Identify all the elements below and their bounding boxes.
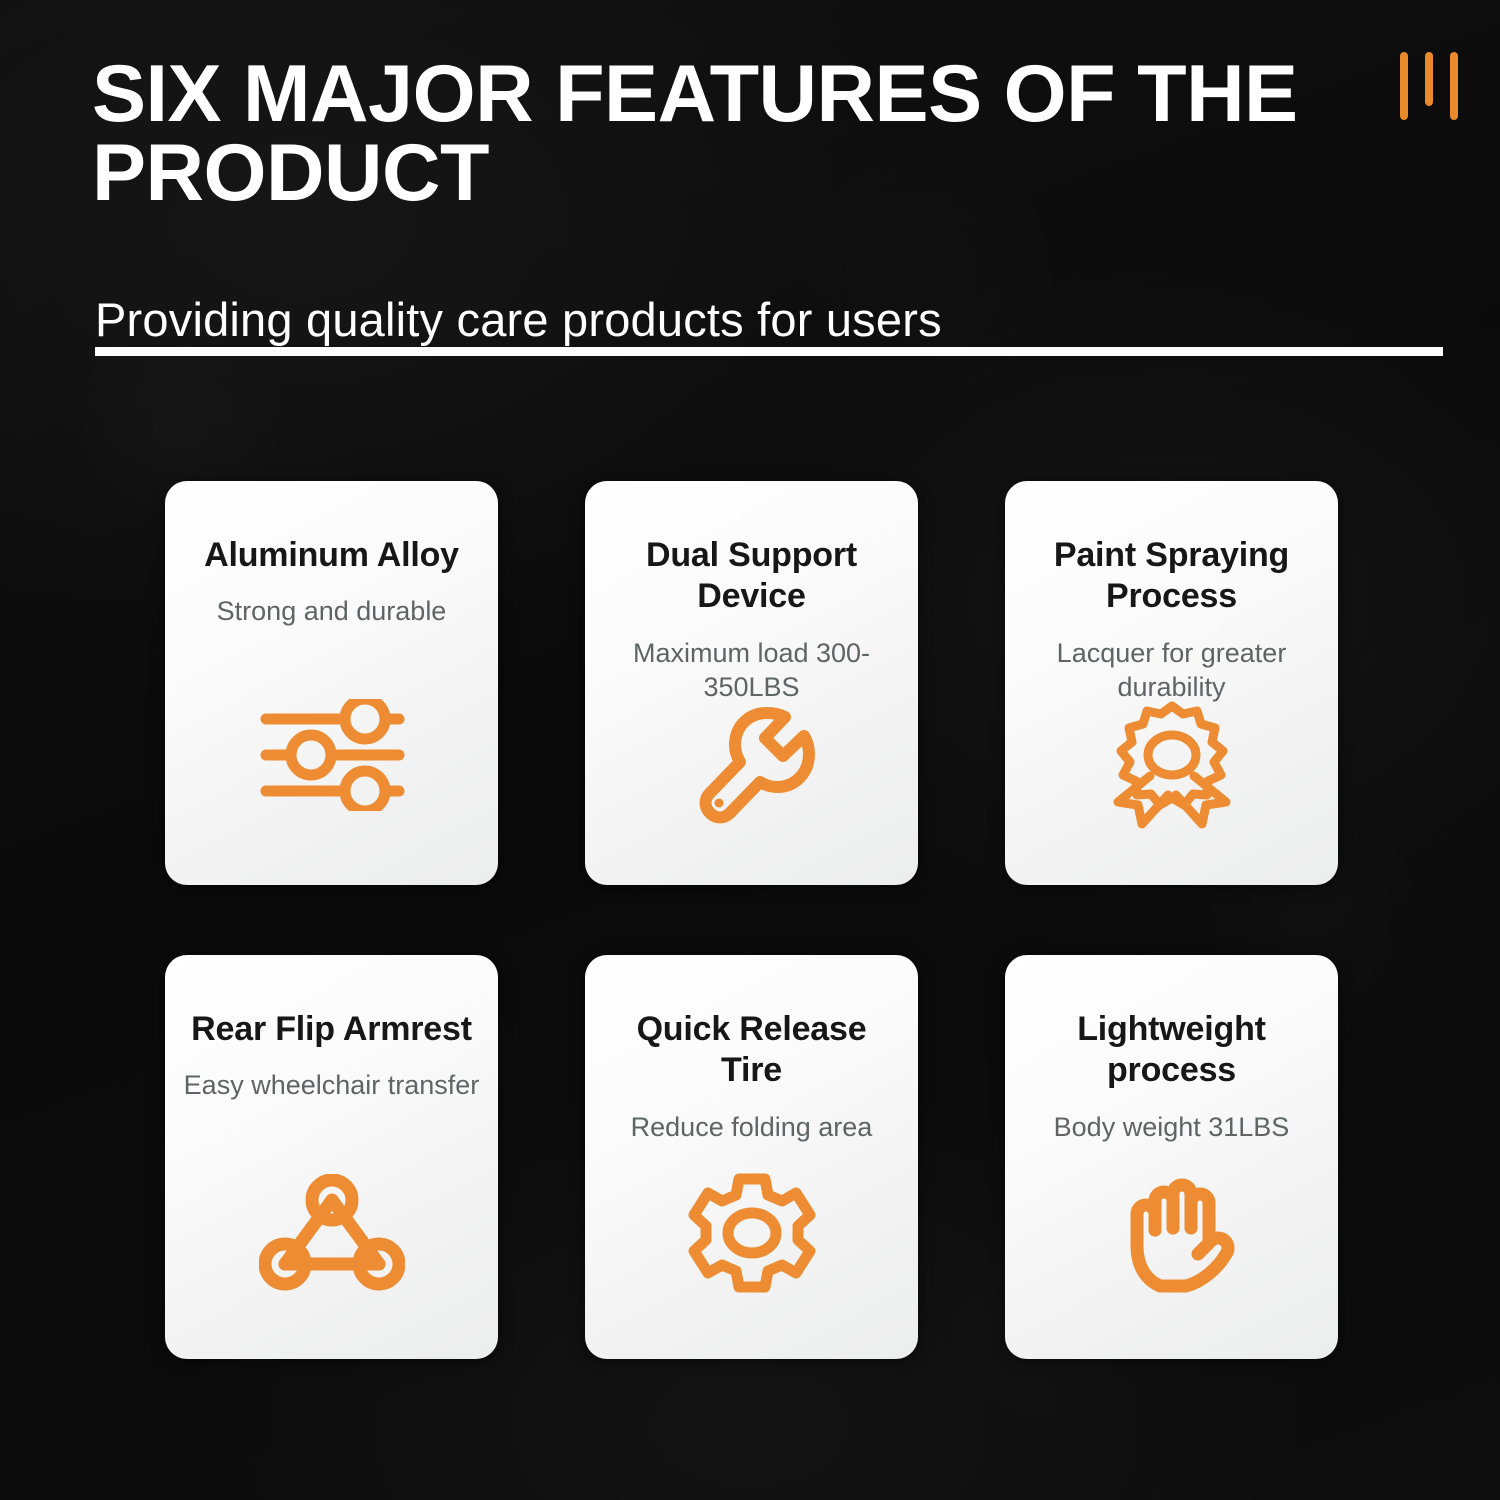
- page-title: SIX MAJOR FEATURES OF THE PRODUCT: [92, 55, 1322, 212]
- logo-bar-middle: [1425, 52, 1433, 106]
- feature-card-title: Dual Support Device: [603, 535, 900, 618]
- open-hand-icon: [1097, 1173, 1247, 1293]
- feature-card-subtitle: Strong and durable: [217, 594, 447, 629]
- gear-cog-icon: [677, 1173, 827, 1293]
- feature-card-subtitle: Body weight 31LBS: [1054, 1110, 1290, 1145]
- award-ribbon-icon: [1097, 705, 1247, 825]
- feature-card-aluminum-alloy[interactable]: Aluminum Alloy Strong and durable: [165, 481, 498, 885]
- features-grid: Aluminum Alloy Strong and durable: [165, 481, 1361, 1359]
- feature-card-title: Quick Release Tire: [603, 1009, 900, 1092]
- logo-bar-left: [1400, 52, 1408, 120]
- feature-card-subtitle: Reduce folding area: [631, 1110, 873, 1145]
- feature-card-subtitle: Lacquer for greater durability: [1023, 636, 1320, 705]
- feature-card-dual-support-device[interactable]: Dual Support Device Maximum load 300-350…: [585, 481, 918, 885]
- triangle-hub-nodes-icon: [257, 1173, 407, 1293]
- feature-card-title: Lightweight process: [1023, 1009, 1320, 1092]
- sliders-settings-icon: [257, 695, 407, 815]
- feature-card-title: Rear Flip Armrest: [191, 1009, 472, 1050]
- three-vertical-bars-icon: [1400, 52, 1464, 122]
- feature-card-quick-release-tire[interactable]: Quick Release Tire Reduce folding area: [585, 955, 918, 1359]
- feature-card-lightweight-process[interactable]: Lightweight process Body weight 31LBS: [1005, 955, 1338, 1359]
- header-divider: [95, 347, 1443, 356]
- feature-card-rear-flip-armrest[interactable]: Rear Flip Armrest Easy wheelchair transf…: [165, 955, 498, 1359]
- logo-bar-right: [1450, 52, 1458, 120]
- page-subtitle: Providing quality care products for user…: [95, 296, 942, 343]
- feature-card-title: Aluminum Alloy: [204, 535, 459, 576]
- infographic-page: SIX MAJOR FEATURES OF THE PRODUCT Provid…: [0, 0, 1500, 1500]
- wrench-icon: [677, 705, 827, 825]
- feature-card-paint-spraying-process[interactable]: Paint Spraying Process Lacquer for great…: [1005, 481, 1338, 885]
- feature-card-title: Paint Spraying Process: [1023, 535, 1320, 618]
- feature-card-subtitle: Maximum load 300-350LBS: [603, 636, 900, 705]
- feature-card-subtitle: Easy wheelchair transfer: [184, 1068, 480, 1103]
